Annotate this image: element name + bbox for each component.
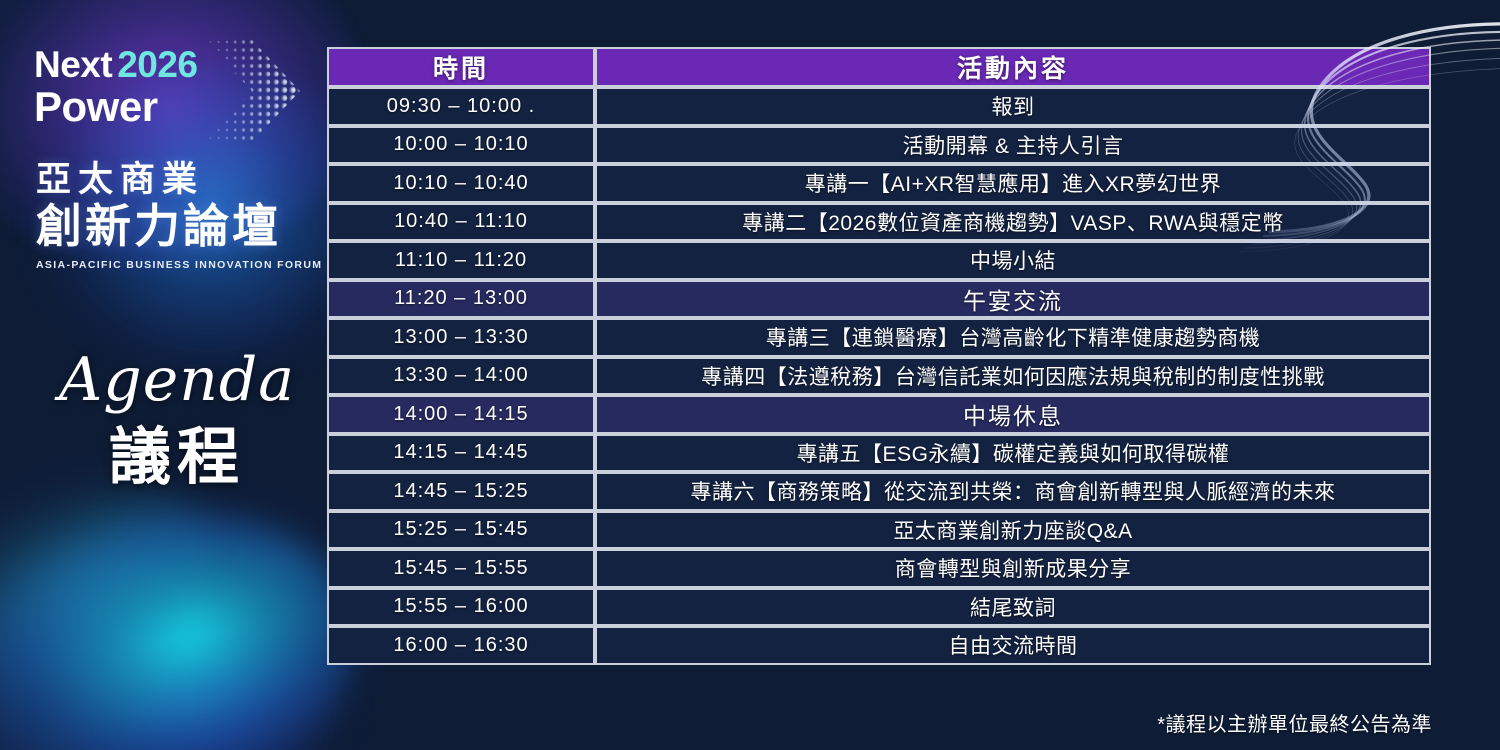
- agenda-row: 14:15 – 14:45專講五【ESG永續】碳權定義與如何取得碳權: [327, 434, 1431, 473]
- agenda-row-activity: 專講二【2026數位資產商機趨勢】VASP、RWA與穩定幣: [595, 203, 1431, 242]
- agenda-row: 11:10 – 11:20中場小結: [327, 241, 1431, 280]
- agenda-row: 10:10 – 10:40專講一【AI+XR智慧應用】進入XR夢幻世界: [327, 164, 1431, 203]
- agenda-row-activity: 午宴交流: [595, 280, 1431, 319]
- agenda-row-time: 16:00 – 16:30: [327, 626, 595, 665]
- agenda-row: 16:00 – 16:30自由交流時間: [327, 626, 1431, 665]
- agenda-row-time: 15:25 – 15:45: [327, 511, 595, 550]
- agenda-row: 11:20 – 13:00午宴交流: [327, 280, 1431, 319]
- agenda-row: 10:00 – 10:10活動開幕 & 主持人引言: [327, 126, 1431, 165]
- forum-name-line1: 亞太商業: [36, 160, 316, 199]
- agenda-row-activity: 專講四【法遵稅務】台灣信託業如何因應法規與稅制的制度性挑戰: [595, 357, 1431, 396]
- agenda-table-body: 09:30 – 10:00 .報到10:00 – 10:10活動開幕 & 主持人…: [327, 87, 1431, 665]
- agenda-row-activity: 專講一【AI+XR智慧應用】進入XR夢幻世界: [595, 164, 1431, 203]
- column-header-time: 時間: [327, 47, 595, 87]
- agenda-row: 13:00 – 13:30專講三【連鎖醫療】台灣高齡化下精準健康趨勢商機: [327, 318, 1431, 357]
- agenda-row: 14:00 – 14:15中場休息: [327, 395, 1431, 434]
- agenda-row-time: 09:30 – 10:00 .: [327, 87, 595, 126]
- agenda-row-time: 10:40 – 11:10: [327, 203, 595, 242]
- agenda-row-activity: 報到: [595, 87, 1431, 126]
- logo-next-text: Next: [34, 44, 112, 85]
- agenda-table-head: 時間 活動內容: [327, 47, 1431, 87]
- agenda-row-activity: 中場小結: [595, 241, 1431, 280]
- agenda-row-time: 10:00 – 10:10: [327, 126, 595, 165]
- agenda-row-activity: 專講三【連鎖醫療】台灣高齡化下精準健康趨勢商機: [595, 318, 1431, 357]
- agenda-row-activity: 亞太商業創新力座談Q&A: [595, 511, 1431, 550]
- agenda-row: 14:45 – 15:25專講六【商務策略】從交流到共榮：商會創新轉型與人脈經濟…: [327, 472, 1431, 511]
- agenda-row-time: 11:10 – 11:20: [327, 241, 595, 280]
- agenda-row-time: 13:30 – 14:00: [327, 357, 595, 396]
- brand-column: Next2026 Power 亞太商業 創新力論壇: [0, 0, 325, 750]
- section-title-script: Agenda: [52, 350, 302, 410]
- agenda-row-activity: 結尾致詞: [595, 588, 1431, 627]
- forum-name-en: ASIA-PACIFIC BUSINESS INNOVATION FORUM: [36, 259, 316, 271]
- agenda-row: 15:45 – 15:55商會轉型與創新成果分享: [327, 549, 1431, 588]
- agenda-row: 09:30 – 10:00 .報到: [327, 87, 1431, 126]
- table-header-row: 時間 活動內容: [327, 47, 1431, 87]
- agenda-row-time: 14:15 – 14:45: [327, 434, 595, 473]
- agenda-row-activity: 中場休息: [595, 395, 1431, 434]
- agenda-row: 10:40 – 11:10專講二【2026數位資產商機趨勢】VASP、RWA與穩…: [327, 203, 1431, 242]
- agenda-row-activity: 專講六【商務策略】從交流到共榮：商會創新轉型與人脈經濟的未來: [595, 472, 1431, 511]
- logo-year-text: 2026: [117, 44, 197, 85]
- agenda-footnote: *議程以主辦單位最終公告為準: [1157, 708, 1432, 737]
- agenda-row-activity: 活動開幕 & 主持人引言: [595, 126, 1431, 165]
- agenda-row-activity: 商會轉型與創新成果分享: [595, 549, 1431, 588]
- agenda-row-activity: 專講五【ESG永續】碳權定義與如何取得碳權: [595, 434, 1431, 473]
- agenda-row: 13:30 – 14:00專講四【法遵稅務】台灣信託業如何因應法規與稅制的制度性…: [327, 357, 1431, 396]
- agenda-row: 15:55 – 16:00結尾致詞: [327, 588, 1431, 627]
- forum-name: 亞太商業 創新力論壇 ASIA-PACIFIC BUSINESS INNOVAT…: [36, 160, 316, 271]
- agenda-row-time: 13:00 – 13:30: [327, 318, 595, 357]
- agenda-row: 15:25 – 15:45亞太商業創新力座談Q&A: [327, 511, 1431, 550]
- agenda-slide: Next2026 Power 亞太商業 創新力論壇: [0, 0, 1500, 750]
- agenda-table: 時間 活動內容 09:30 – 10:00 .報到10:00 – 10:10活動…: [327, 47, 1431, 665]
- section-title-cn: 議程: [52, 424, 302, 492]
- agenda-table-container: 時間 活動內容 09:30 – 10:00 .報到10:00 – 10:10活動…: [327, 47, 1431, 665]
- agenda-row-time: 14:00 – 14:15: [327, 395, 595, 434]
- agenda-row-time: 14:45 – 15:25: [327, 472, 595, 511]
- agenda-row-time: 15:45 – 15:55: [327, 549, 595, 588]
- forum-name-line2: 創新力論壇: [36, 201, 316, 252]
- agenda-row-activity: 自由交流時間: [595, 626, 1431, 665]
- agenda-row-time: 15:55 – 16:00: [327, 588, 595, 627]
- agenda-row-time: 11:20 – 13:00: [327, 280, 595, 319]
- agenda-row-time: 10:10 – 10:40: [327, 164, 595, 203]
- column-header-activity: 活動內容: [595, 47, 1431, 87]
- halftone-chevron-right-icon: [196, 38, 304, 144]
